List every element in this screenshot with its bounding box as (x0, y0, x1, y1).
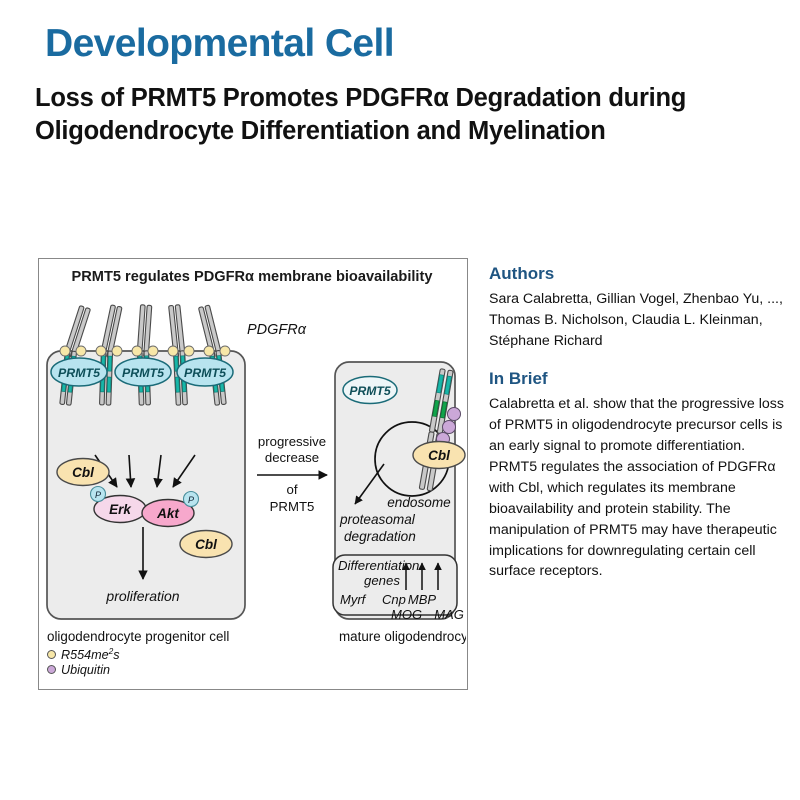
transition-line4: PRMT5 (270, 499, 315, 514)
graphical-abstract-page: Developmental Cell Loss of PRMT5 Promote… (0, 0, 800, 800)
akt-label: Akt (156, 506, 179, 521)
cbl-label: Cbl (428, 448, 450, 463)
prmt5-ellipse-3: PRMT5 (177, 358, 233, 386)
prmt5-label: PRMT5 (184, 366, 227, 380)
prmt5-ellipse-1: PRMT5 (51, 358, 107, 386)
gene-cnp: Cnp (382, 592, 406, 607)
degradation-line1: proteasomal (339, 512, 416, 527)
right-cell-mature-oligodendrocyte: PRMT5 endosome (333, 362, 466, 644)
graphical-abstract-diagram: PRMT5 regulates PDGFRα membrane bioavail… (38, 258, 468, 690)
cbl-label: Cbl (195, 537, 217, 552)
legend-item-methylation: R554me2s (47, 647, 120, 662)
prmt5-label: PRMT5 (122, 366, 165, 380)
me2s-circle-icon (47, 650, 56, 659)
gene-mag: MAG (434, 607, 464, 622)
phospho-label: P (95, 490, 101, 500)
prmt5-label: PRMT5 (58, 366, 101, 380)
pdgfra-label: PDGFRα (247, 322, 307, 338)
diagram-legend: R554me2s Ubiquitin (47, 647, 120, 677)
prmt5-ellipse-2: PRMT5 (115, 358, 171, 386)
gene-mog: MOG (391, 607, 422, 622)
gene-myrf: Myrf (340, 592, 367, 607)
legend-item-ubiquitin: Ubiquitin (47, 662, 120, 677)
phospho-label: P (188, 495, 194, 505)
nucleus-line2: genes (364, 573, 400, 588)
degradation-line2: degradation (344, 529, 416, 544)
transition-line1: progressive (258, 434, 326, 449)
cbl-ellipse-1: Cbl (57, 459, 109, 486)
in-brief-heading: In Brief (489, 369, 789, 389)
opc-caption: oligodendrocyte progenitor cell (47, 629, 229, 644)
legend-label-ubiquitin: Ubiquitin (61, 663, 110, 677)
authors-list: Sara Calabretta, Gillian Vogel, Zhenbao … (489, 289, 789, 352)
proliferation-label: proliferation (105, 588, 179, 604)
diagram-title: PRMT5 regulates PDGFRα membrane bioavail… (72, 269, 434, 285)
erk-label: Erk (109, 502, 132, 517)
cbl-label: Cbl (72, 465, 94, 480)
prmt5-ellipse-right: PRMT5 (343, 377, 397, 404)
article-title: Loss of PRMT5 Promotes PDGFRα Degradatio… (35, 82, 787, 148)
cbl-ellipse-2: Cbl (180, 531, 232, 558)
legend-label-methylation: R554me2s (61, 646, 120, 662)
mature-ol-caption: mature oligodendrocyte (339, 629, 466, 644)
in-brief-text: Calabretta et al. show that the progress… (489, 394, 789, 582)
transition-line3: of (287, 482, 298, 497)
prmt5-label: PRMT5 (349, 384, 391, 398)
transition-line2: decrease (265, 450, 319, 465)
authors-heading: Authors (489, 264, 789, 284)
endosome-label: endosome (387, 495, 451, 510)
journal-title: Developmental Cell (45, 24, 394, 65)
right-column: Authors Sara Calabretta, Gillian Vogel, … (489, 264, 789, 582)
transition-block: progressive decrease of PRMT5 (257, 434, 327, 514)
cbl-ellipse-right: Cbl (413, 442, 465, 469)
gene-mbp: MBP (408, 592, 437, 607)
ubiquitin-circle-icon (47, 665, 56, 674)
nucleus-line1: Differentiation (338, 558, 419, 573)
